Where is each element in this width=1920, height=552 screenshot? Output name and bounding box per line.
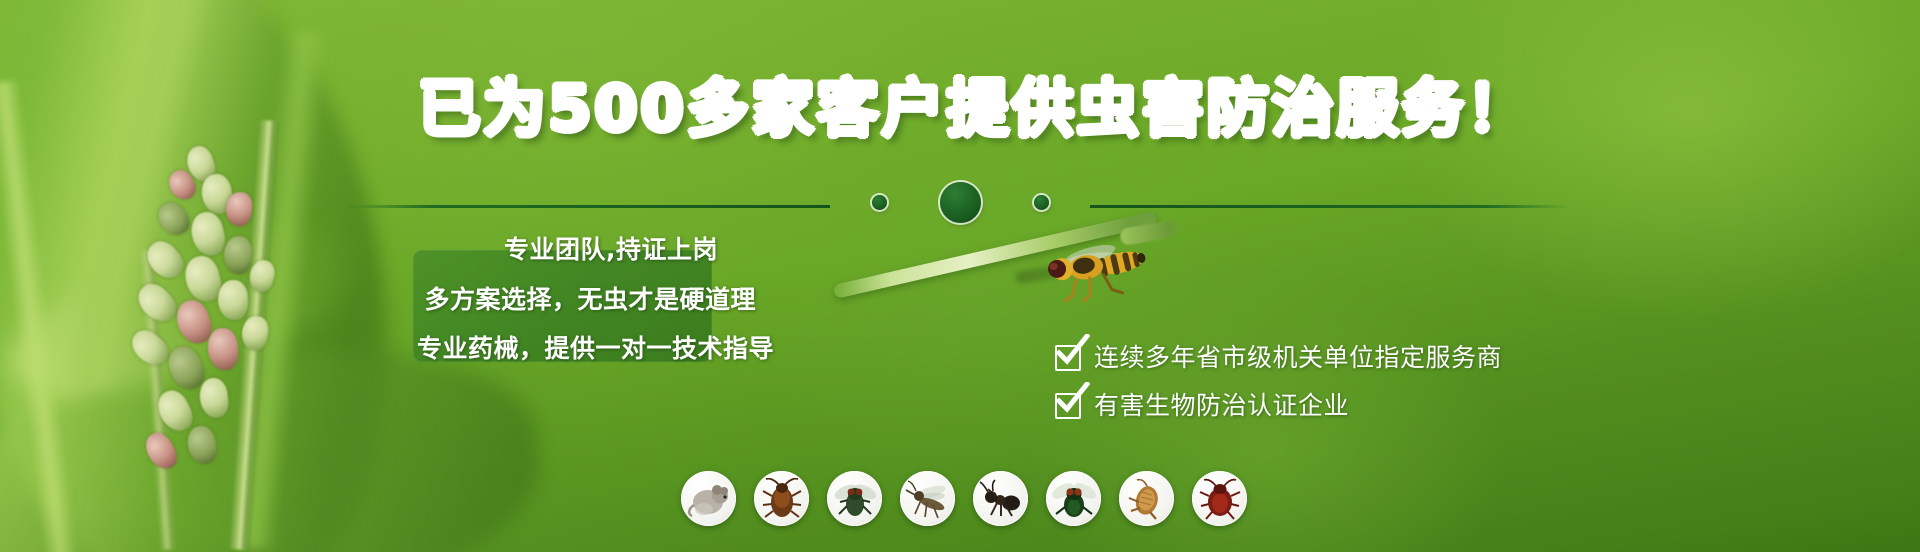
divider-line-left	[345, 205, 830, 208]
pest-control-banner: 已为500多家客户提供虫害防治服务！ 专业团队,持证上岗 多方案选择，无虫才是硬…	[0, 0, 1920, 552]
housefly-icon[interactable]	[1046, 471, 1101, 526]
credential-item-2: 有害生物防治认证企业	[1055, 382, 1502, 430]
cockroach-icon[interactable]	[754, 471, 809, 526]
ornament-divider	[0, 186, 1920, 212]
flea-icon[interactable]	[1119, 471, 1174, 526]
small-dot-right	[1034, 195, 1049, 210]
bedbug-icon[interactable]	[1192, 471, 1247, 526]
ant-icon[interactable]	[973, 471, 1028, 526]
credential-list: 连续多年省市级机关单位指定服务商 有害生物防治认证企业	[1055, 334, 1502, 430]
large-dot-center	[940, 182, 981, 223]
pest-icon-strip	[681, 471, 1247, 526]
credential-label-2: 有害生物防治认证企业	[1094, 392, 1349, 420]
page-title: 已为500多家客户提供虫害防治服务！	[0, 74, 1920, 144]
checkbox-checked-icon	[1055, 393, 1081, 419]
small-dot-left	[872, 195, 887, 210]
credential-item-1: 连续多年省市级机关单位指定服务商	[1055, 334, 1502, 382]
credential-label-1: 连续多年省市级机关单位指定服务商	[1094, 344, 1502, 372]
checkbox-checked-icon	[1055, 345, 1081, 371]
mosquito-icon[interactable]	[900, 471, 955, 526]
divider-line-right	[1090, 205, 1570, 208]
page-title-text: 已为500多家客户提供虫害防治服务！	[418, 72, 1531, 145]
mouse-icon[interactable]	[681, 471, 736, 526]
fly-icon[interactable]	[827, 471, 882, 526]
promo-panel	[413, 250, 712, 362]
